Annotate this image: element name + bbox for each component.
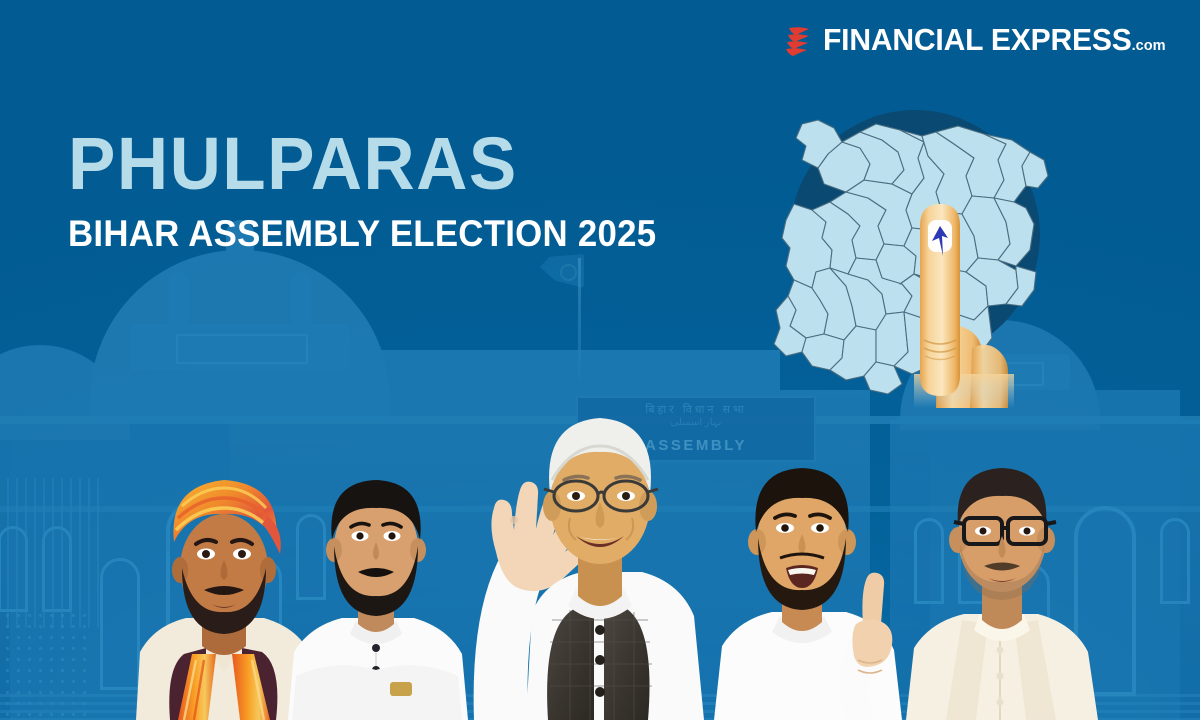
leader-portrait-5: [888, 420, 1118, 720]
page-subtitle: BIHAR ASSEMBLY ELECTION 2025: [68, 215, 656, 252]
logo-tld: .com: [1131, 37, 1165, 54]
leaders-row: [0, 250, 1200, 720]
financial-express-flame-icon: [786, 25, 812, 56]
logo-wordmark: FINANCIAL EXPRESS.com: [823, 22, 1166, 58]
leader-portrait-3: [430, 330, 720, 720]
financial-express-logo[interactable]: FINANCIAL EXPRESS.com: [786, 22, 1176, 58]
election-banner: बिहार विधान सभा بہار اسمبلی ASSEMBLY: [0, 0, 1200, 720]
logo-name: FINANCIAL EXPRESS: [823, 22, 1132, 57]
headline-block: PHULPARAS BIHAR ASSEMBLY ELECTION 2025: [68, 128, 694, 252]
page-title: PHULPARAS: [68, 128, 669, 199]
